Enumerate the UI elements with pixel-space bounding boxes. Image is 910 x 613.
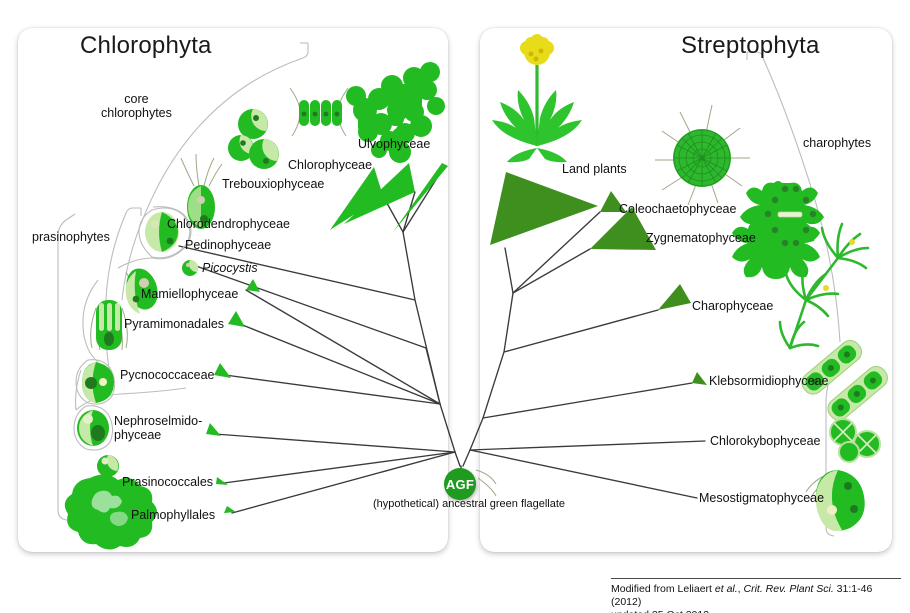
- group-label-core-chlorophytes: core chlorophytes: [101, 92, 172, 120]
- group-label-charophytes: charophytes: [803, 136, 871, 150]
- credit-journal: Crit. Rev. Plant Sci.: [744, 583, 834, 595]
- credit-line-1: Modified from Leliaert et al., Crit. Rev…: [611, 583, 901, 609]
- clade-triangle-chlorophyceae: [344, 163, 415, 224]
- clade-triangle-pycnococcaceae: [214, 363, 231, 378]
- clade-label-chlorophyceae: Chlorophyceae: [288, 159, 372, 172]
- clade-triangle-land-plants: [490, 172, 598, 245]
- clade-label-pyramimonadales: Pyramimonadales: [124, 318, 224, 331]
- clade-label-chlorodendrophyceae: Chlorodendrophyceae: [167, 218, 290, 231]
- organism-coleochaetophyceae: [655, 105, 750, 205]
- clade-label-trebouxiophyceae: Trebouxiophyceae: [222, 178, 324, 191]
- agf-node-caption: (hypothetical) ancestral green flagellat…: [373, 498, 565, 510]
- figure-canvas: .br{stroke:#3a3a3a;stroke-width:1.35;fil…: [0, 0, 910, 613]
- clade-label-mamiellophyceae: Mamiellophyceae: [141, 288, 238, 301]
- clade-label-nephroselmidophyceae: Nephroselmido-phyceae: [114, 415, 209, 442]
- panel-title-streptophyta: Streptophyta: [681, 32, 820, 60]
- organism-prasinococcales: [97, 455, 119, 477]
- clade-label-klebsormidiophyceae: Klebsormidiophyceae: [709, 375, 829, 388]
- clade-label-chlorokybophyceae: Chlorokybophyceae: [710, 435, 821, 448]
- source-credit: Modified from Leliaert et al., Crit. Rev…: [611, 578, 901, 613]
- clade-label-picocystis: Picocystis: [202, 262, 258, 275]
- organism-trebouxiophyceae: [228, 109, 279, 169]
- clade-triangle-palmophyllales: [224, 506, 236, 513]
- panel-title-chlorophyta: Chlorophyta: [80, 32, 212, 60]
- clade-triangle-mamiellophyceae: [246, 279, 260, 292]
- agf-node-badge: AGF: [444, 468, 476, 500]
- organism-nephroselmidophyceae: [74, 406, 113, 450]
- credit-line-2: updated 25 Oct 2013: [611, 609, 901, 613]
- clade-label-pycnococcaceae: Pycnococcaceae: [120, 369, 215, 382]
- organism-charophyceae-gametangia: [823, 239, 855, 291]
- clade-label-palmophyllales: Palmophyllales: [131, 509, 215, 522]
- clade-label-zygnematophyceae: Zygnematophyceae: [646, 232, 756, 245]
- clade-triangle-pyramimonadales: [228, 311, 245, 327]
- clade-triangle-prasinococcales: [216, 477, 228, 485]
- clade-label-mesostigmatophyceae: Mesostigmatophyceae: [699, 492, 824, 505]
- organism-picocystis: [182, 260, 198, 276]
- clade-label-prasinococcales: Prasinococcales: [122, 476, 213, 489]
- credit-prefix: Modified from Leliaert: [611, 583, 715, 595]
- clade-label-charophyceae: Charophyceae: [692, 300, 773, 313]
- clade-label-land-plants: Land plants: [562, 163, 627, 176]
- credit-etal: et al.: [715, 583, 738, 595]
- clade-triangle-charophyceae: [658, 284, 691, 310]
- clade-triangle-klebsormidiophyceae: [692, 372, 707, 385]
- clade-label-ulvophyceae: Ulvophyceae: [358, 138, 430, 151]
- organism-pyramimonadales: [91, 300, 128, 350]
- group-label-prasinophytes: prasinophytes: [32, 230, 110, 244]
- clade-label-pedinophyceae: Pedinophyceae: [185, 239, 271, 252]
- organism-land-plant-dandelion: [492, 34, 582, 162]
- tree-streptophyta: [463, 212, 705, 498]
- clade-label-coleochaetophyceae: Coleochaetophyceae: [619, 203, 736, 216]
- organism-zygnematophyceae: [732, 181, 824, 279]
- organism-pycnococcaceae: [76, 360, 115, 404]
- organism-chlorokybophyceae: [830, 419, 880, 462]
- organism-chlorophyceae: [290, 88, 348, 136]
